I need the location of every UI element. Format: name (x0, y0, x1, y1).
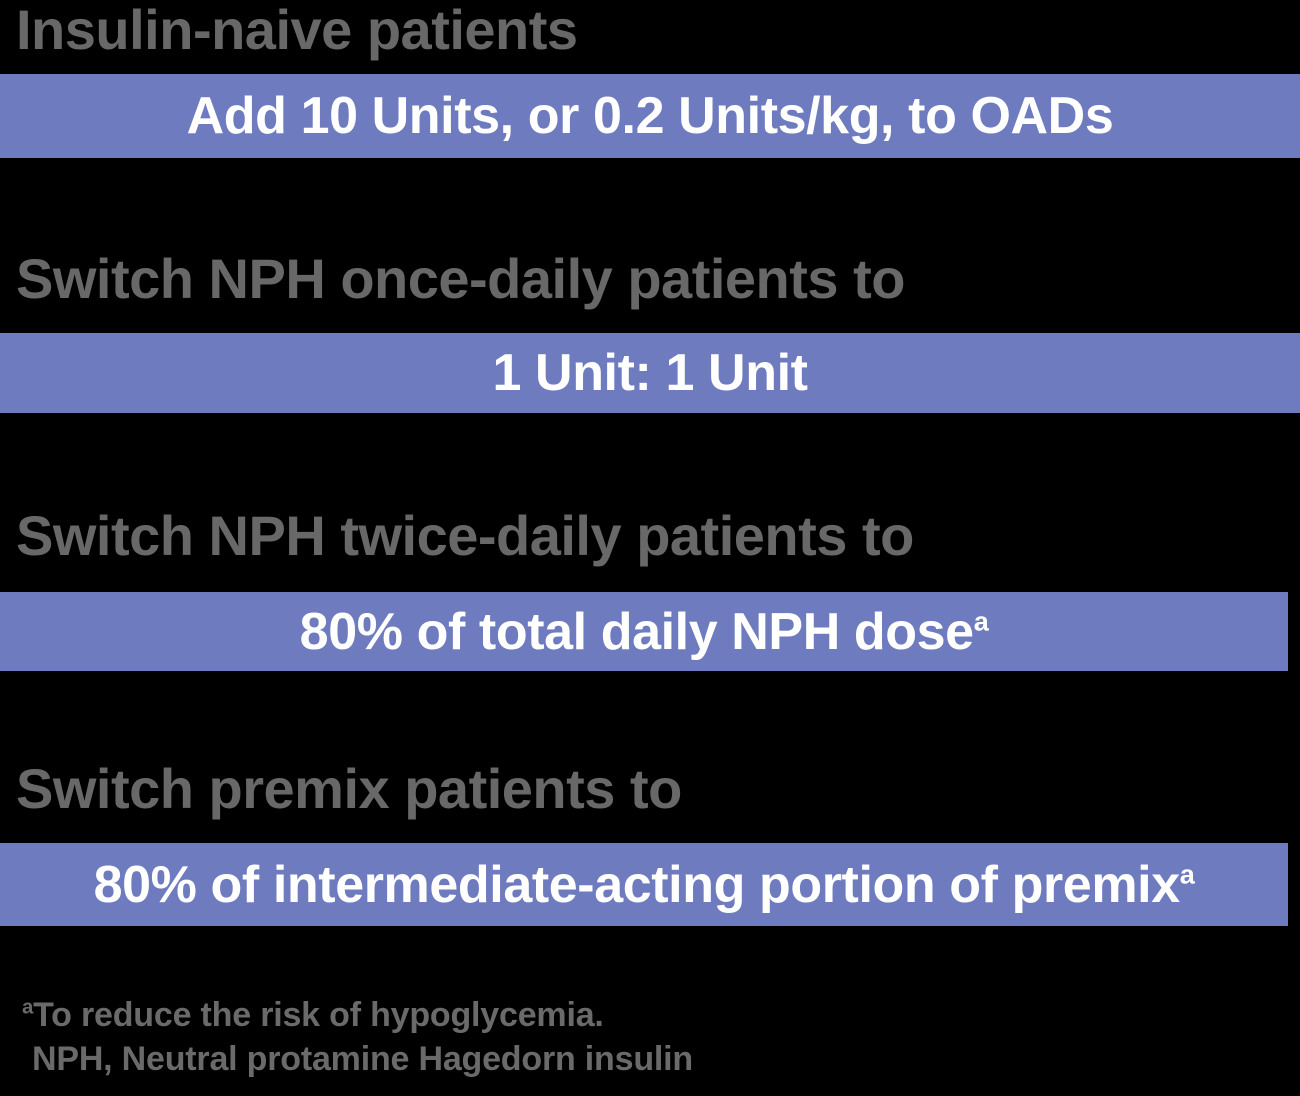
footnote-line-1: aTo reduce the risk of hypoglycemia. (22, 994, 1122, 1038)
footnote-marker-4: a (1180, 859, 1195, 889)
footnotes-block: aTo reduce the risk of hypoglycemia. NPH… (22, 994, 1122, 1081)
slide-canvas: Insulin-naive patients Add 10 Units, or … (0, 0, 1300, 1096)
footnote-marker-letter: a (22, 997, 33, 1019)
section-heading-nph-once-daily: Switch NPH once-daily patients to (16, 251, 905, 307)
section-heading-premix: Switch premix patients to (16, 761, 682, 817)
section-heading-insulin-naive: Insulin-naive patients (16, 2, 578, 58)
bar-text-insulin-naive: Add 10 Units, or 0.2 Units/kg, to OADs (187, 90, 1114, 142)
footnote-marker-3: a (974, 606, 989, 636)
footnote-line-2: NPH, Neutral protamine Hagedorn insulin (22, 1038, 1122, 1082)
highlight-bar-nph-once-daily: 1 Unit: 1 Unit (0, 333, 1300, 413)
highlight-bar-premix: 80% of intermediate-acting portion of pr… (0, 843, 1288, 926)
highlight-bar-nph-twice-daily: 80% of total daily NPH dosea (0, 592, 1288, 671)
highlight-bar-insulin-naive: Add 10 Units, or 0.2 Units/kg, to OADs (0, 74, 1300, 158)
section-heading-nph-twice-daily: Switch NPH twice-daily patients to (16, 508, 914, 564)
bar-text-premix: 80% of intermediate-acting portion of pr… (94, 859, 1195, 911)
bar-text-nph-twice-daily: 80% of total daily NPH dosea (300, 606, 989, 658)
bar-text-nph-once-daily: 1 Unit: 1 Unit (492, 347, 807, 399)
